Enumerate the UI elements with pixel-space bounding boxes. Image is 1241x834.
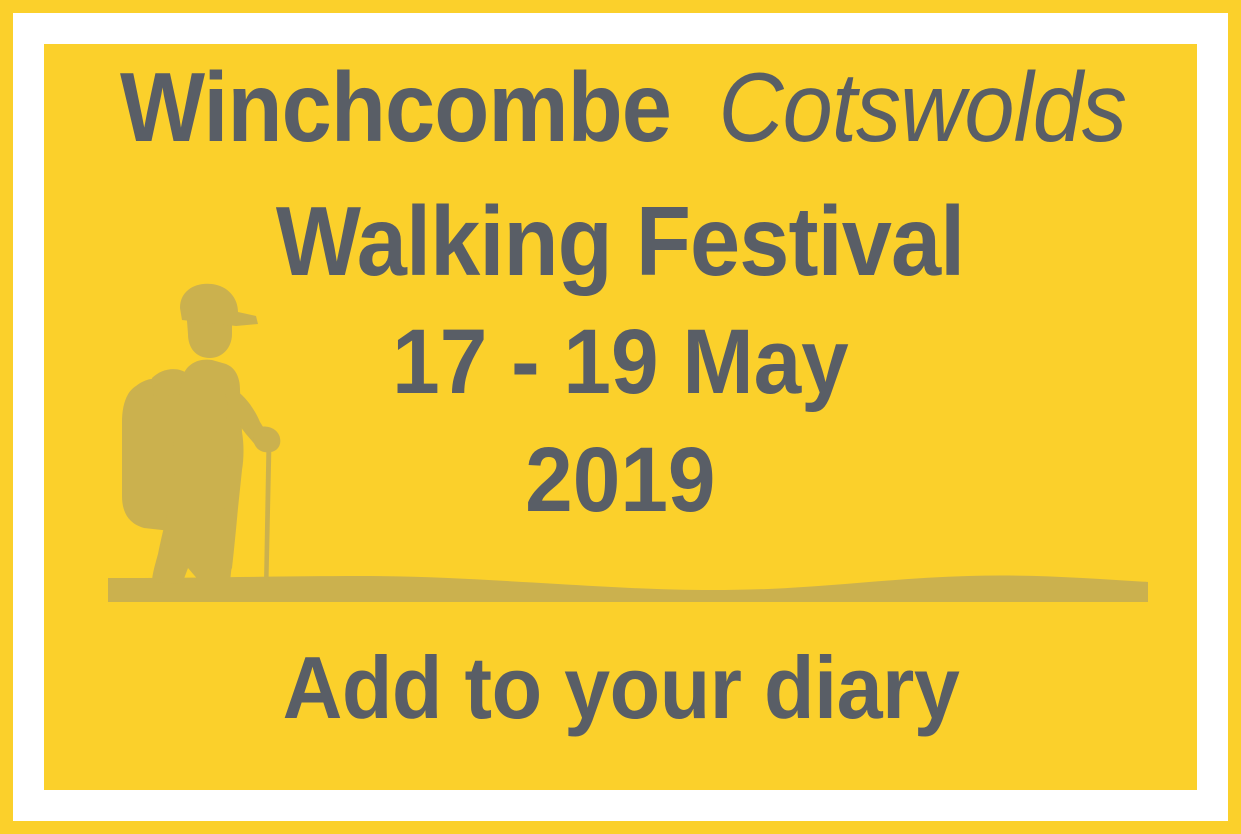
- call-to-action: Add to your diary: [44, 644, 1197, 732]
- event-year-text: 2019: [525, 434, 715, 526]
- page-title: WinchcombeCotswolds: [44, 58, 1197, 156]
- poster: WinchcombeCotswolds Walking Festival 17 …: [0, 0, 1241, 834]
- call-to-action-text: Add to your diary: [282, 644, 959, 732]
- poster-inner-panel: WinchcombeCotswolds Walking Festival 17 …: [44, 44, 1197, 790]
- subtitle: Walking Festival: [44, 192, 1197, 290]
- headline-region: Cotswolds: [713, 58, 1126, 156]
- event-dates-text: 17 - 19 May: [392, 316, 849, 408]
- event-dates: 17 - 19 May: [44, 316, 1197, 408]
- poster-white-frame: WinchcombeCotswolds Walking Festival 17 …: [13, 13, 1228, 821]
- subtitle-text: Walking Festival: [276, 192, 964, 290]
- ground-band-shape: [108, 575, 1148, 602]
- event-year: 2019: [44, 434, 1197, 526]
- headline-town: Winchcombe: [120, 58, 671, 156]
